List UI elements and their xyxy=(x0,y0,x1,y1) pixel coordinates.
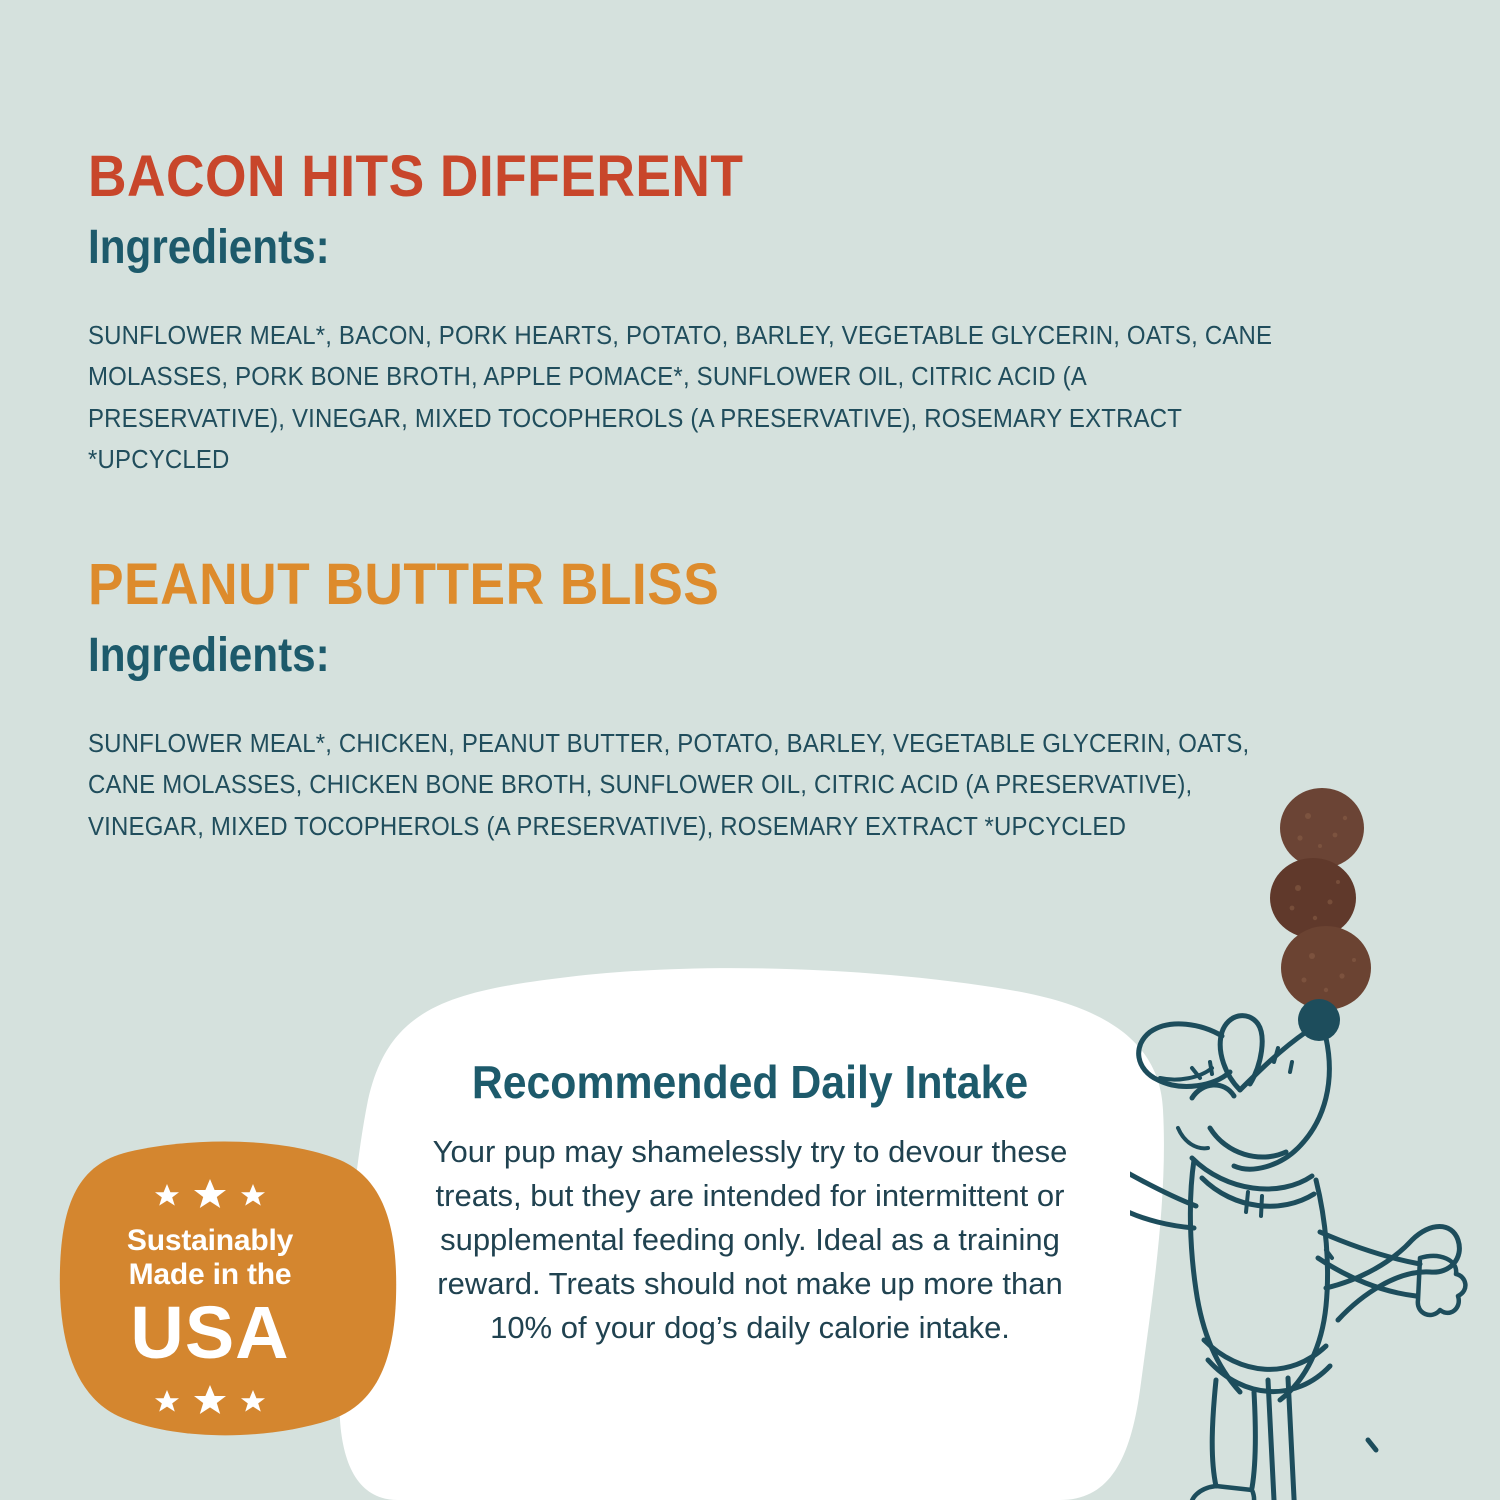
recommended-daily-intake-callout: Recommended Daily Intake Your pup may sh… xyxy=(390,1058,1110,1350)
ingredients-label-bacon: Ingredients: xyxy=(88,224,1206,272)
flavor-title-bacon: BACON HITS DIFFERENT xyxy=(88,148,1256,206)
flavor-title-peanut-butter: PEANUT BUTTER BLISS xyxy=(88,556,1256,614)
flavor-section-bacon: BACON HITS DIFFERENT Ingredients: SUNFLO… xyxy=(88,148,1358,507)
treat-ball-bottom xyxy=(1281,926,1371,1010)
badge-line-made-in-the: Made in the xyxy=(60,1258,360,1292)
stars-top-group xyxy=(60,1178,360,1208)
ingredients-label-peanut-butter: Ingredients: xyxy=(88,632,1206,680)
ingredients-list-bacon: SUNFLOWER MEAL*, BACON, PORK HEARTS, POT… xyxy=(88,316,1282,481)
stars-bottom-group xyxy=(60,1384,360,1414)
ingredients-list-peanut-butter: SUNFLOWER MEAL*, CHICKEN, PEANUT BUTTER,… xyxy=(88,724,1282,848)
star-icon xyxy=(241,1184,265,1206)
callout-body-text: Your pup may shamelessly try to devour t… xyxy=(390,1130,1110,1350)
star-icon xyxy=(194,1385,226,1414)
dog-line-art xyxy=(1130,1016,1465,1500)
star-icon xyxy=(155,1184,179,1206)
star-icon xyxy=(241,1390,265,1412)
treat-ball-middle xyxy=(1270,858,1356,938)
callout-title: Recommended Daily Intake xyxy=(415,1058,1085,1106)
badge-line-usa: USA xyxy=(60,1296,360,1370)
dog-on-unicycle-illustration xyxy=(1130,780,1500,1500)
badge-line-sustainably: Sustainably xyxy=(60,1224,360,1258)
star-icon xyxy=(155,1390,179,1412)
product-info-panel: BACON HITS DIFFERENT Ingredients: SUNFLO… xyxy=(0,0,1500,1500)
treat-stack xyxy=(1270,788,1371,1010)
star-icon xyxy=(194,1179,226,1208)
three-stars-icon-top xyxy=(145,1178,275,1208)
treat-ball-top xyxy=(1280,788,1364,868)
three-stars-icon-bottom xyxy=(145,1384,275,1414)
sustainably-made-usa-badge: Sustainably Made in the USA xyxy=(60,1178,360,1414)
